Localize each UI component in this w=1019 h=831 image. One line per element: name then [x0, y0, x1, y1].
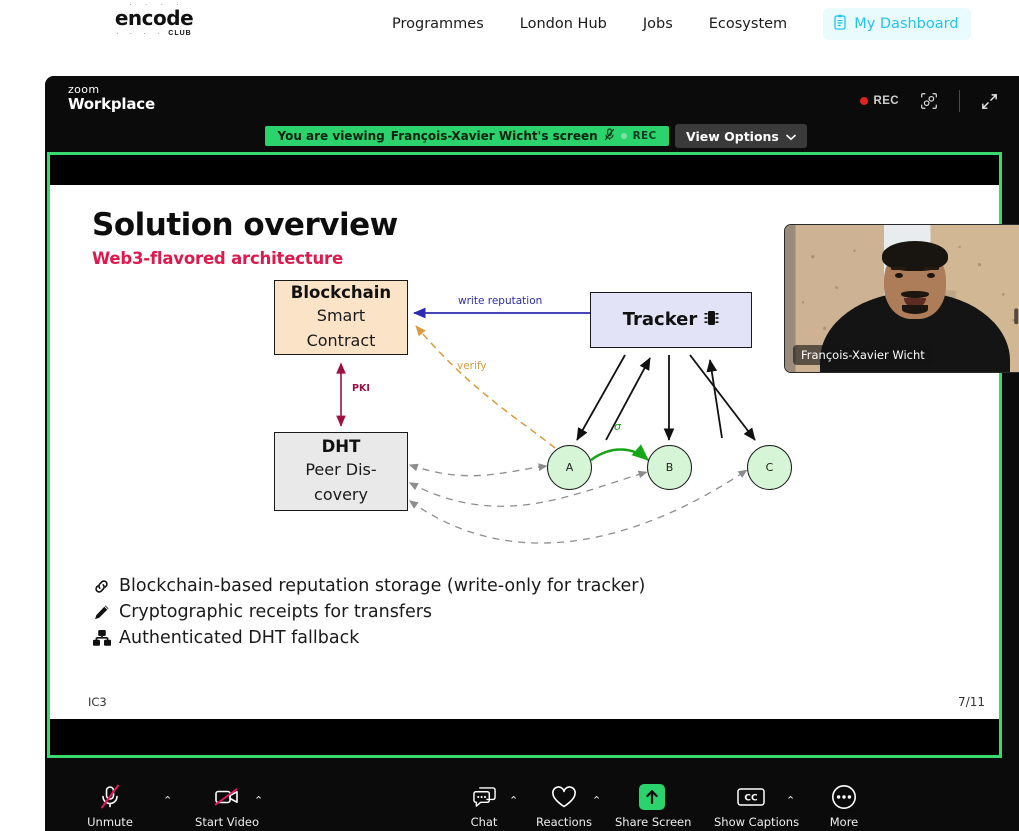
zoom-titlebar: zoom Workplace REC [45, 76, 1019, 126]
clipboard-icon [833, 14, 847, 34]
my-dashboard-button[interactable]: My Dashboard [823, 8, 970, 40]
participant-name-label: François-Xavier Wicht [793, 345, 933, 365]
slide-title: Solution overview [92, 207, 398, 243]
show-captions-label: Show Captions [714, 815, 788, 829]
edge-label-verify: verify [457, 360, 487, 372]
chat-options-caret-icon[interactable]: ⌃ [509, 794, 518, 807]
edge-label-sigma: σ [614, 420, 621, 433]
diagram-box-blockchain: Blockchain Smart Contract [274, 280, 408, 355]
gallery-view-icon[interactable] [919, 91, 939, 111]
record-dot-icon [860, 97, 868, 105]
titlebar-controls: REC [860, 76, 999, 126]
view-options-label: View Options [686, 129, 779, 144]
viewing-banner: You are viewing François-Xavier Wicht's … [265, 126, 669, 146]
diagram-box-dht: DHT Peer Dis- covery [274, 432, 408, 511]
captions-options-caret-icon[interactable]: ⌃ [786, 794, 795, 807]
diagram-box-tracker: Tracker [590, 292, 752, 348]
bullet-text: Authenticated DHT fallback [119, 625, 359, 651]
logo-wordmark: encode [108, 8, 200, 29]
self-video-thumbnail[interactable]: François-Xavier Wicht [784, 224, 1019, 373]
audio-options-caret-icon[interactable]: ⌃ [163, 794, 172, 807]
dht-line2: covery [314, 482, 368, 507]
person-eye-right [927, 273, 935, 278]
zoom-workplace-logo: zoom Workplace [68, 83, 155, 113]
blockchain-line1: Smart [317, 303, 365, 328]
unmute-label: Unmute [73, 815, 147, 829]
view-options-button[interactable]: View Options [675, 124, 807, 148]
slide-page-number: 7/11 [958, 695, 985, 709]
dht-line1: Peer Dis- [305, 457, 376, 482]
nav-item-jobs[interactable]: Jobs [625, 16, 691, 32]
nav-item-london-hub[interactable]: London Hub [502, 16, 625, 32]
recording-indicator[interactable]: REC [860, 95, 899, 107]
share-screen-label: Share Screen [615, 815, 689, 829]
tracker-title: Tracker [623, 310, 698, 330]
list-item: Blockchain-based reputation storage (wri… [92, 573, 645, 599]
nav-item-ecosystem[interactable]: Ecosystem [691, 16, 805, 32]
chat-label: Chat [447, 815, 521, 829]
blockchain-title: Blockchain [291, 283, 391, 303]
video-options-caret-icon[interactable]: ⌃ [254, 794, 263, 807]
share-arrow-up-icon [639, 784, 665, 810]
slide-bullet-list: Blockchain-based reputation storage (wri… [92, 573, 645, 651]
start-video-label: Start Video [190, 815, 264, 829]
banner-rec-label: REC [633, 130, 657, 142]
logo-dots-bottom: · · · · [116, 30, 164, 38]
person-eye-left [895, 273, 903, 278]
list-item: Cryptographic receipts for transfers [92, 599, 645, 625]
chip-icon [704, 309, 719, 332]
diagram-node-a: A [547, 445, 592, 490]
dht-title: DHT [322, 437, 361, 457]
share-screen-button[interactable]: Share Screen [615, 782, 689, 829]
network-hierarchy-icon [92, 630, 111, 646]
viewing-presenter: François-Xavier Wicht's screen [391, 129, 598, 143]
svg-text:CC: CC [744, 794, 758, 804]
microphone-muted-icon [73, 782, 147, 812]
viewing-banner-row: You are viewing François-Xavier Wicht's … [45, 124, 1019, 148]
person-moustache [901, 291, 929, 298]
logo-club-text: CLUB [168, 30, 191, 38]
edge-label-write-reputation: write reputation [458, 295, 542, 307]
encode-club-logo[interactable]: · · · · encode · · · · CLUB [108, 2, 200, 38]
start-video-button[interactable]: Start Video [190, 782, 264, 829]
more-label: More [807, 815, 881, 829]
blockchain-line2: Contract [307, 328, 376, 353]
heart-icon [527, 782, 601, 812]
person-beard [902, 305, 928, 314]
diagram-node-b: B [647, 445, 692, 490]
reactions-options-caret-icon[interactable]: ⌃ [592, 794, 601, 807]
edge-label-pki: PKI [352, 383, 370, 394]
camera-off-icon [190, 782, 264, 812]
site-header: · · · · encode · · · · CLUB Programmes L… [0, 0, 1019, 48]
main-nav: Programmes London Hub Jobs Ecosystem My … [392, 0, 971, 48]
fullscreen-expand-icon[interactable] [980, 92, 999, 111]
bullet-text: Blockchain-based reputation storage (wri… [119, 573, 645, 599]
slide-footer-source: IC3 [88, 695, 107, 709]
microphone-muted-icon [604, 128, 615, 144]
chevron-down-icon [786, 129, 796, 144]
titlebar-divider [959, 90, 960, 112]
nav-item-programmes[interactable]: Programmes [392, 16, 502, 32]
my-dashboard-label: My Dashboard [854, 16, 958, 32]
zoom-logo-bottom: Workplace [68, 95, 155, 113]
unmute-button[interactable]: Unmute [73, 782, 147, 829]
more-button[interactable]: More [807, 782, 881, 829]
bullet-text: Cryptographic receipts for transfers [119, 599, 432, 625]
reactions-label: Reactions [527, 815, 601, 829]
list-item: Authenticated DHT fallback [92, 625, 645, 651]
zoom-toolbar: Unmute ⌃ Start Video ⌃ [45, 764, 1019, 831]
pencil-icon [92, 604, 111, 621]
person-brow-right [924, 267, 939, 270]
zoom-window: zoom Workplace REC [45, 76, 1019, 831]
closed-caption-icon: CC [714, 782, 788, 812]
show-captions-button[interactable]: CC Show Captions [714, 782, 788, 829]
person-brow-left [891, 267, 906, 270]
slide-subtitle: Web3-flavored architecture [92, 249, 343, 268]
diagram-node-c: C [747, 445, 792, 490]
ellipsis-icon [807, 782, 881, 812]
banner-record-dot-icon [621, 133, 627, 139]
reactions-button[interactable]: Reactions [527, 782, 601, 829]
recording-label: REC [874, 95, 899, 107]
viewing-prefix: You are viewing [277, 129, 384, 143]
link-icon [92, 578, 111, 595]
